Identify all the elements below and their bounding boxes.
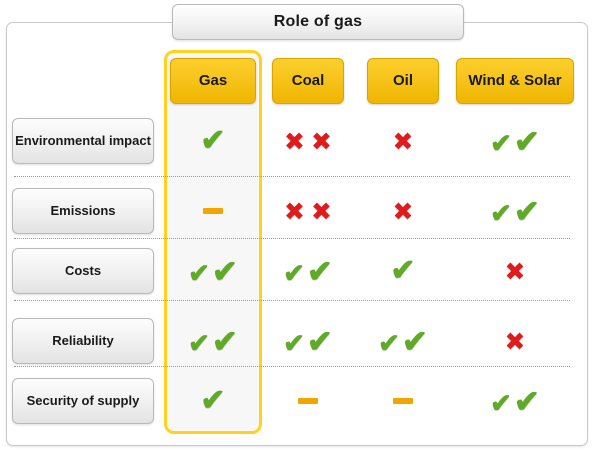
check-icon: ✔ <box>200 126 225 156</box>
rating-cell: ✖✖ <box>272 118 344 164</box>
check-icon: ✔ <box>200 386 225 416</box>
check-icon: ✔ <box>490 200 512 226</box>
column-header-wind-solar: Wind & Solar <box>456 58 574 104</box>
row-header-label: Environmental impact <box>15 134 151 149</box>
cross-icon: ✖ <box>284 199 305 224</box>
check-icon: ✔ <box>307 326 333 357</box>
rating-cell: ✖ <box>367 188 439 234</box>
diagram-title-tab: Role of gas <box>172 4 464 40</box>
cross-icon: ✖ <box>505 259 526 284</box>
row-header-environmental-impact: Environmental impact <box>12 118 154 164</box>
row-header-label: Security of supply <box>27 394 140 409</box>
column-header-coal: Coal <box>272 58 344 104</box>
check-icon: ✔ <box>378 330 400 356</box>
rating-cell: ✔✔ <box>170 318 256 364</box>
column-header-label: Gas <box>199 73 227 89</box>
cross-icon: ✖ <box>311 199 332 224</box>
rating-cell: ✔✔ <box>170 248 256 294</box>
row-separator <box>14 176 570 177</box>
row-separator <box>14 238 570 239</box>
rating-cell: ✔ <box>367 248 439 294</box>
check-icon: ✔ <box>490 130 512 156</box>
page-title: Role of gas <box>274 13 362 31</box>
dash-icon <box>298 398 318 404</box>
row-header-label: Emissions <box>50 204 115 219</box>
rating-cell: ✔✔ <box>456 378 574 424</box>
rating-cell: ✖ <box>367 118 439 164</box>
check-icon: ✔ <box>212 256 238 287</box>
dash-icon <box>203 208 223 214</box>
rating-cell: ✔ <box>170 378 256 424</box>
rating-cell: ✔✔ <box>272 318 344 364</box>
column-header-gas: Gas <box>170 58 256 104</box>
gas-column-highlight <box>164 50 262 434</box>
column-header-label: Wind & Solar <box>468 73 561 89</box>
row-header-costs: Costs <box>12 248 154 294</box>
rating-cell: ✔✔ <box>272 248 344 294</box>
check-icon: ✔ <box>188 260 210 286</box>
rating-cell <box>170 188 256 234</box>
row-header-reliability: Reliability <box>12 318 154 364</box>
rating-cell <box>367 378 439 424</box>
check-icon: ✔ <box>490 390 512 416</box>
rating-cell <box>272 378 344 424</box>
check-icon: ✔ <box>212 326 238 357</box>
row-header-security-of-supply: Security of supply <box>12 378 154 424</box>
rating-cell: ✔ <box>170 118 256 164</box>
rating-cell: ✖✖ <box>272 188 344 234</box>
check-icon: ✔ <box>514 196 540 227</box>
rating-cell: ✔✔ <box>367 318 439 364</box>
rating-cell: ✖ <box>456 248 574 294</box>
check-icon: ✔ <box>283 330 305 356</box>
row-separator <box>14 366 570 367</box>
check-icon: ✔ <box>402 326 428 357</box>
column-header-oil: Oil <box>367 58 439 104</box>
cross-icon: ✖ <box>505 329 526 354</box>
check-icon: ✔ <box>188 330 210 356</box>
cross-icon: ✖ <box>284 129 305 154</box>
cross-icon: ✖ <box>393 199 414 224</box>
row-separator <box>14 300 570 301</box>
check-icon: ✔ <box>283 260 305 286</box>
check-icon: ✔ <box>514 386 540 417</box>
column-header-label: Coal <box>292 73 325 89</box>
check-icon: ✔ <box>307 256 333 287</box>
check-icon: ✔ <box>390 256 415 286</box>
check-icon: ✔ <box>514 126 540 157</box>
row-header-label: Costs <box>65 264 101 279</box>
column-header-label: Oil <box>393 73 413 89</box>
rating-cell: ✖ <box>456 318 574 364</box>
cross-icon: ✖ <box>393 129 414 154</box>
row-header-label: Reliability <box>52 334 113 349</box>
dash-icon <box>393 398 413 404</box>
rating-cell: ✔✔ <box>456 118 574 164</box>
row-header-emissions: Emissions <box>12 188 154 234</box>
cross-icon: ✖ <box>311 129 332 154</box>
rating-cell: ✔✔ <box>456 188 574 234</box>
